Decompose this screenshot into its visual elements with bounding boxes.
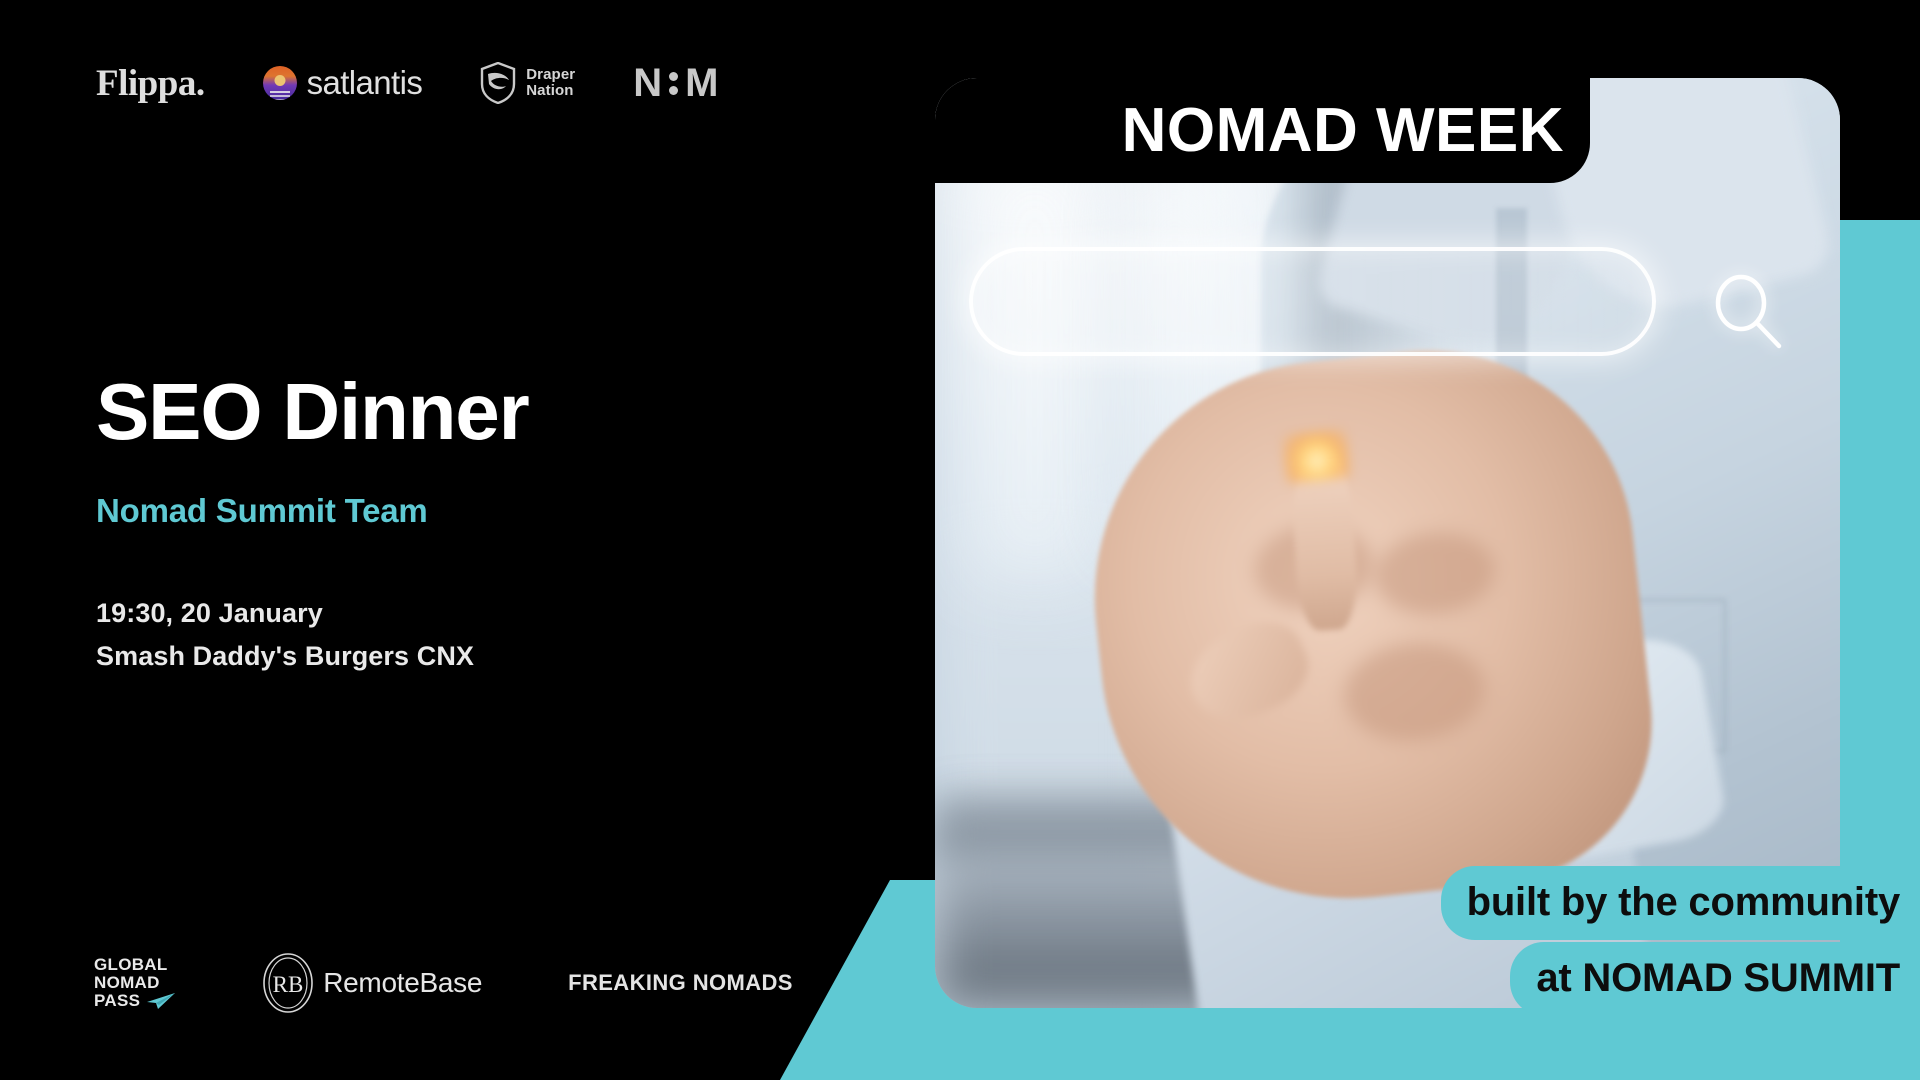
draper-line-1: Draper (526, 66, 575, 83)
logo-flippa: Flippa. (96, 62, 205, 105)
gnp-line-3: PASS (94, 992, 140, 1010)
svg-text:RB: RB (273, 972, 304, 997)
logo-num: N M (633, 63, 718, 103)
logo-freaking-nomads: FREAKING NOMADS (568, 970, 793, 996)
event-host: Nomad Summit Team (96, 494, 428, 527)
fingertip-glow (1281, 428, 1351, 483)
logo-satlantis-wordmark: satlantis (307, 64, 423, 102)
caption-banner: built by the community at NOMAD SUMMIT (1325, 866, 1920, 1016)
gnp-line-1: GLOBAL (94, 956, 176, 974)
logo-global-nomad-pass: GLOBAL NOMAD PASS (94, 956, 176, 1010)
logo-draper-nation-wordmark: Draper Nation (526, 67, 575, 98)
draper-line-2: Nation (526, 82, 573, 99)
event-venue: Smash Daddy's Burgers CNX (96, 635, 474, 678)
num-colon-icon (667, 72, 680, 95)
remotebase-monogram-icon: RB (262, 952, 314, 1014)
event-time-date: 19:30, 20 January (96, 592, 474, 635)
search-input[interactable] (969, 247, 1656, 355)
logo-remotebase-wordmark: RemoteBase (323, 967, 482, 999)
draper-shield-icon (480, 62, 516, 104)
event-title: SEO Dinner (96, 372, 529, 452)
caption-line-1: built by the community (1441, 866, 1920, 940)
sponsor-logo-row-top: Flippa. satlantis Draper Nation (96, 52, 718, 114)
num-glyph-right: M (685, 63, 718, 103)
logo-flippa-wordmark: Flippa. (96, 62, 205, 105)
nomad-week-badge: NOMAD WEEK (935, 78, 1590, 183)
satlantis-sunset-icon (263, 66, 297, 100)
gnp-line-2: NOMAD (94, 974, 176, 992)
paper-plane-icon (146, 992, 176, 1010)
left-content-panel: Flippa. satlantis Draper Nation (0, 0, 935, 1080)
search-icon[interactable] (1705, 270, 1789, 354)
logo-satlantis: satlantis (263, 64, 423, 102)
num-glyph-left: N (633, 63, 662, 103)
logo-draper-nation: Draper Nation (480, 62, 575, 104)
nomad-week-label: NOMAD WEEK (1122, 100, 1564, 162)
logo-remotebase: RB RemoteBase (262, 952, 482, 1014)
caption-line-2: at NOMAD SUMMIT (1510, 942, 1920, 1016)
event-meta: 19:30, 20 January Smash Daddy's Burgers … (96, 592, 474, 677)
poster-canvas: Flippa. satlantis Draper Nation (0, 0, 1920, 1080)
sponsor-logo-row-bottom: GLOBAL NOMAD PASS (94, 948, 793, 1018)
